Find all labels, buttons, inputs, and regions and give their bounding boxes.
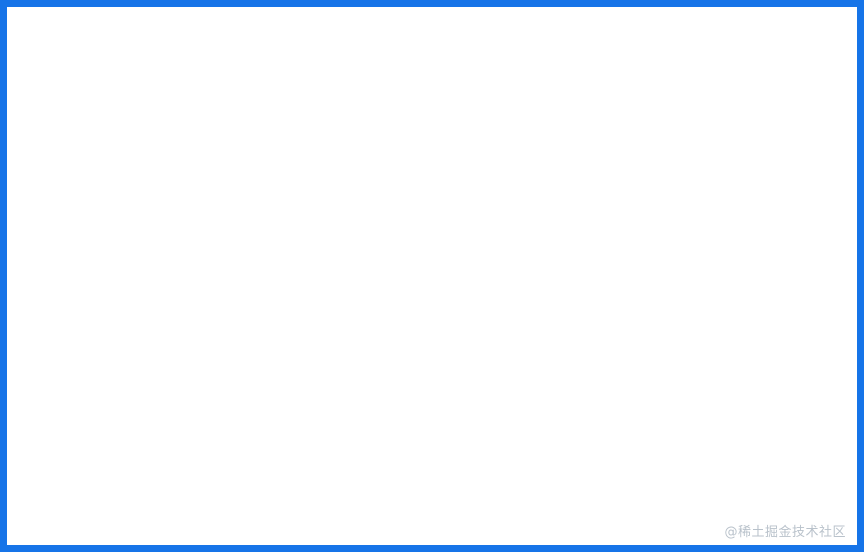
diagram-canvas: 工作 0478 E作 0478 工作 0478 E作 0478 工作 0478 … [0,0,864,552]
diagram-background [7,7,857,545]
credit-watermark: @稀土掘金技术社区 [724,521,846,540]
